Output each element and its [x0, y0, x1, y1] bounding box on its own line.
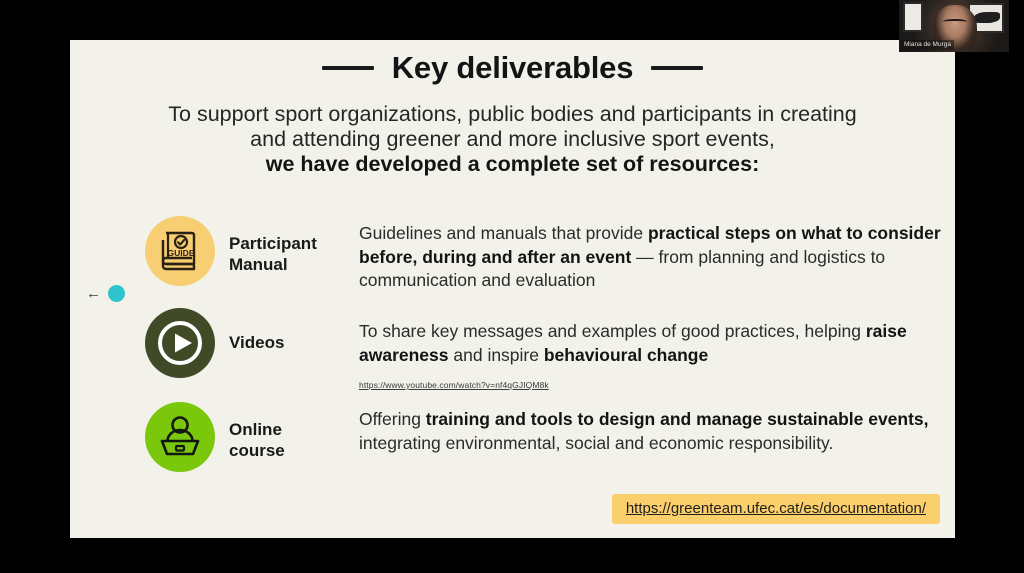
- description-text-2: integrating environmental, social and ec…: [359, 433, 833, 453]
- youtube-video-link[interactable]: https://www.youtube.com/watch?v=nf4qGJIQ…: [359, 374, 990, 398]
- subtitle-line-3: we have developed a complete set of reso…: [100, 152, 925, 177]
- deliverable-description: Offering training and tools to design an…: [359, 402, 990, 455]
- participant-name-label: Miana de Murga: [901, 40, 954, 50]
- deliverable-label-line-2: course: [229, 440, 359, 461]
- title-dash-right-icon: [651, 66, 703, 70]
- deliverable-label-line-2: Manual: [229, 254, 359, 275]
- glasses-icon: [943, 19, 967, 26]
- description-text: Offering: [359, 409, 426, 429]
- wall-frame-left-decor: [903, 2, 923, 32]
- svg-text:GUIDE: GUIDE: [167, 248, 194, 258]
- deliverable-label-line-1: Online: [229, 419, 359, 440]
- deliverable-row: Videos To share key messages and example…: [145, 308, 990, 398]
- subtitle-line-1: To support sport organizations, public b…: [100, 102, 925, 127]
- deliverable-row: GUIDE Participant Manual Guidelines and …: [145, 216, 990, 293]
- description-text: Guidelines and manuals that provide: [359, 223, 648, 243]
- deliverable-label: Online course: [229, 402, 359, 461]
- slide-subtitle: To support sport organizations, public b…: [100, 102, 925, 177]
- subtitle-line-2: and attending greener and more inclusive…: [100, 127, 925, 152]
- arrow-left-icon: ←: [86, 286, 101, 301]
- presenter-pointer[interactable]: ←: [86, 285, 125, 302]
- deliverable-label: Participant Manual: [229, 216, 359, 275]
- deliverable-row: Online course Offering training and tool…: [145, 402, 990, 472]
- presentation-slide: Key deliverables To support sport organi…: [70, 40, 955, 538]
- deliverable-label-line-1: Videos: [229, 332, 359, 353]
- pointer-dot-icon[interactable]: [108, 285, 125, 302]
- screen-canvas: Key deliverables To support sport organi…: [0, 0, 1024, 573]
- description-text-2: and inspire: [449, 345, 544, 365]
- page-title: Key deliverables: [392, 50, 634, 86]
- slide-title-row: Key deliverables: [70, 50, 955, 86]
- description-bold-2: behavioural change: [544, 345, 708, 365]
- deliverable-label: Videos: [229, 308, 359, 353]
- documentation-url-link[interactable]: https://greenteam.ufec.cat/es/documentat…: [612, 494, 940, 524]
- play-button-icon: [145, 308, 215, 378]
- description-bold: training and tools to design and manage …: [426, 409, 929, 429]
- webcam-tile[interactable]: Miana de Murga: [899, 0, 1009, 52]
- title-dash-left-icon: [322, 66, 374, 70]
- person-laptop-icon: [145, 402, 215, 472]
- description-text: To share key messages and examples of go…: [359, 321, 866, 341]
- deliverable-description: To share key messages and examples of go…: [359, 308, 990, 398]
- guide-book-icon: GUIDE: [145, 216, 215, 286]
- deliverable-description: Guidelines and manuals that provide prac…: [359, 216, 990, 293]
- deliverable-label-line-1: Participant: [229, 233, 359, 254]
